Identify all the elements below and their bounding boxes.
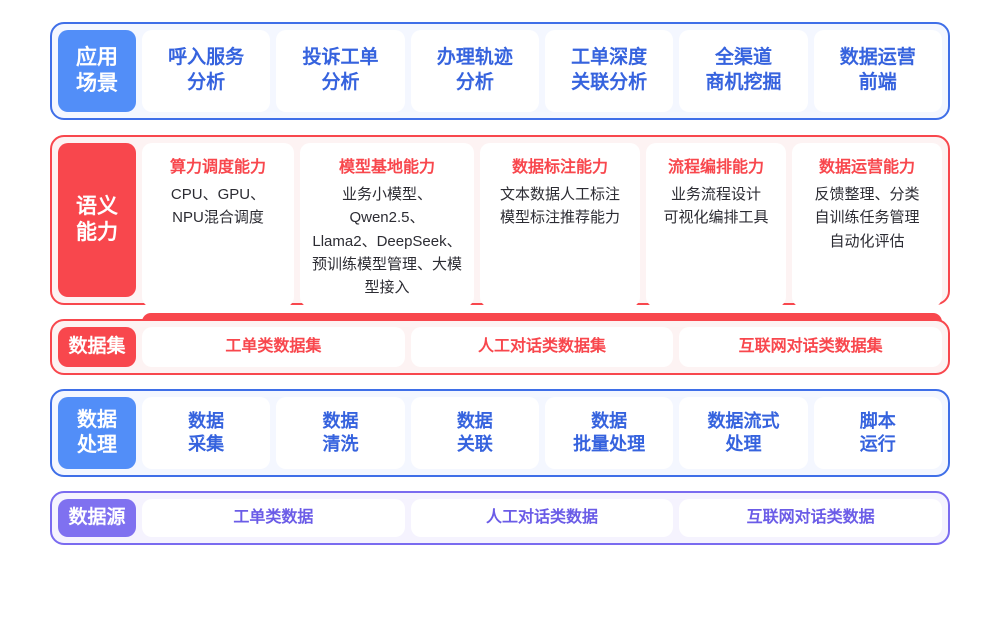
row-data-sources: 数据源 工单类数据 人工对话类数据 互联网对话类数据 — [50, 491, 950, 545]
row-datasets: 数据集 工单类数据集 人工对话类数据集 互联网对话类数据集 — [50, 319, 950, 375]
source-card-list: 工单类数据 人工对话类数据 互联网对话类数据 — [142, 499, 942, 537]
card-line-2: 处理 — [725, 433, 761, 456]
row-label-data-processing[interactable]: 数据 处理 — [58, 397, 136, 469]
card-line-1: 脚本 — [860, 410, 896, 433]
row-label-line-1: 应用 — [76, 45, 118, 71]
capability-body-line-2: Llama2、DeepSeek、 — [308, 230, 466, 253]
capability-body: 业务流程设计 可视化编排工具 — [663, 183, 768, 230]
capability-card-model-base[interactable]: 模型基地能力 业务小模型、Qwen2.5、 Llama2、DeepSeek、 预… — [300, 143, 474, 307]
row-label-datasets[interactable]: 数据集 — [58, 327, 136, 367]
capability-card-data-operation[interactable]: 数据运营能力 反馈整理、分类 自训练任务管理 自动化评估 — [792, 143, 942, 307]
card-line-1: 办理轨迹 — [437, 46, 513, 71]
scenario-card-inbound-service-analysis[interactable]: 呼入服务 分析 — [142, 30, 270, 112]
capability-card-process-orchestration[interactable]: 流程编排能力 业务流程设计 可视化编排工具 — [646, 143, 786, 307]
card-line-2: 采集 — [188, 433, 224, 456]
scenario-card-list: 呼入服务 分析 投诉工单 分析 办理轨迹 分析 工单深度 关联分析 全渠道 商机… — [142, 30, 942, 112]
card-line-2: 分析 — [456, 71, 494, 96]
capability-body: 业务小模型、Qwen2.5、 Llama2、DeepSeek、 预训练模型管理、… — [308, 183, 466, 299]
card-line-1: 呼入服务 — [168, 46, 244, 71]
capability-title: 模型基地能力 — [339, 153, 435, 177]
dataset-card-list: 工单类数据集 人工对话类数据集 互联网对话类数据集 — [142, 327, 942, 367]
row-application-scenarios: 应用 场景 呼入服务 分析 投诉工单 分析 办理轨迹 分析 工单深度 关联分析 … — [50, 22, 950, 120]
card-line-2: 分析 — [187, 71, 225, 96]
scenario-card-ticket-deep-correlation-analysis[interactable]: 工单深度 关联分析 — [545, 30, 673, 112]
card-line-1: 数据运营 — [840, 46, 916, 71]
processing-card-data-collection[interactable]: 数据 采集 — [142, 397, 270, 469]
card-line-1: 数据 — [188, 410, 224, 433]
card-line-2: 清洗 — [322, 433, 358, 456]
processing-card-stream-processing[interactable]: 数据流式 处理 — [679, 397, 807, 469]
row-label-line-1: 语义 — [76, 194, 118, 220]
semantic-right-column: 算力调度能力 CPU、GPU、 NPU混合调度 模型基地能力 业务小模型、Qwe… — [142, 143, 942, 297]
card-line-2: 关联分析 — [571, 71, 647, 96]
capability-card-list: 算力调度能力 CPU、GPU、 NPU混合调度 模型基地能力 业务小模型、Qwe… — [142, 143, 942, 307]
row-label-data-sources[interactable]: 数据源 — [58, 499, 136, 537]
capability-body-line-1: CPU、GPU、 — [171, 183, 265, 206]
row-label-line-2: 能力 — [76, 220, 118, 246]
card-line-2: 运行 — [860, 433, 896, 456]
architecture-diagram: 应用 场景 呼入服务 分析 投诉工单 分析 办理轨迹 分析 工单深度 关联分析 … — [0, 0, 1000, 620]
scenario-card-handling-track-analysis[interactable]: 办理轨迹 分析 — [411, 30, 539, 112]
capability-body-line-1: 文本数据人工标注 — [500, 183, 620, 206]
capability-body-line-2: 可视化编排工具 — [663, 206, 768, 229]
card-line-1: 全渠道 — [715, 46, 772, 71]
row-label-line-2: 处理 — [77, 433, 117, 458]
processing-card-list: 数据 采集 数据 清洗 数据 关联 数据 批量处理 数据流式 处理 脚本 运行 — [142, 397, 942, 469]
processing-card-data-correlation[interactable]: 数据 关联 — [411, 397, 539, 469]
card-line-1: 投诉工单 — [302, 46, 378, 71]
capability-title: 流程编排能力 — [668, 153, 764, 177]
capability-body: CPU、GPU、 NPU混合调度 — [171, 183, 265, 230]
card-line-1: 数据 — [322, 410, 358, 433]
card-line-1: 工单深度 — [571, 46, 647, 71]
scenario-card-complaint-ticket-analysis[interactable]: 投诉工单 分析 — [276, 30, 404, 112]
capability-body: 文本数据人工标注 模型标注推荐能力 — [500, 183, 620, 230]
dataset-card-internet-dialogue[interactable]: 互联网对话类数据集 — [679, 327, 942, 367]
capability-body-line-3: 预训练模型管理、大模型接入 — [308, 253, 466, 300]
capability-body-line-3: 自动化评估 — [814, 230, 919, 253]
card-line-2: 商机挖掘 — [705, 71, 781, 96]
capability-body-line-1: 业务流程设计 — [663, 183, 768, 206]
processing-card-script-run[interactable]: 脚本 运行 — [814, 397, 942, 469]
dataset-card-human-dialogue[interactable]: 人工对话类数据集 — [411, 327, 674, 367]
row-label-application-scenarios[interactable]: 应用 场景 — [58, 30, 136, 112]
card-line-1: 数据 — [457, 410, 493, 433]
source-card-internet-dialogue-data[interactable]: 互联网对话类数据 — [679, 499, 942, 537]
processing-card-data-cleaning[interactable]: 数据 清洗 — [276, 397, 404, 469]
scenario-card-data-operation-frontend[interactable]: 数据运营 前端 — [814, 30, 942, 112]
capability-body-line-2: NPU混合调度 — [171, 206, 265, 229]
scenario-card-omnichannel-opportunity-mining[interactable]: 全渠道 商机挖掘 — [679, 30, 807, 112]
processing-card-batch-processing[interactable]: 数据 批量处理 — [545, 397, 673, 469]
row-semantic-capability: 语义 能力 算力调度能力 CPU、GPU、 NPU混合调度 模型基地能力 业务小… — [50, 135, 950, 305]
row-label-line-2: 场景 — [76, 71, 118, 97]
capability-title: 数据运营能力 — [819, 153, 915, 177]
source-card-human-dialogue-data[interactable]: 人工对话类数据 — [411, 499, 674, 537]
card-line-1: 数据流式 — [707, 410, 779, 433]
row-data-processing: 数据 处理 数据 采集 数据 清洗 数据 关联 数据 批量处理 数据流式 处理 — [50, 389, 950, 477]
dataset-card-ticket[interactable]: 工单类数据集 — [142, 327, 405, 367]
capability-title: 数据标注能力 — [512, 153, 608, 177]
source-card-ticket-data[interactable]: 工单类数据 — [142, 499, 405, 537]
card-line-2: 前端 — [859, 71, 897, 96]
row-label-semantic-capability[interactable]: 语义 能力 — [58, 143, 136, 297]
card-line-2: 关联 — [457, 433, 493, 456]
capability-card-data-annotation[interactable]: 数据标注能力 文本数据人工标注 模型标注推荐能力 — [480, 143, 640, 307]
row-label-line-1: 数据 — [77, 408, 117, 433]
capability-body-line-2: 模型标注推荐能力 — [500, 206, 620, 229]
capability-card-compute-scheduling[interactable]: 算力调度能力 CPU、GPU、 NPU混合调度 — [142, 143, 294, 307]
capability-body: 反馈整理、分类 自训练任务管理 自动化评估 — [814, 183, 919, 253]
capability-title: 算力调度能力 — [170, 153, 266, 177]
card-line-2: 分析 — [321, 71, 359, 96]
card-line-1: 数据 — [591, 410, 627, 433]
capability-body-line-2: 自训练任务管理 — [814, 206, 919, 229]
capability-body-line-1: 反馈整理、分类 — [814, 183, 919, 206]
capability-body-line-1: 业务小模型、Qwen2.5、 — [308, 183, 466, 230]
card-line-2: 批量处理 — [573, 433, 645, 456]
